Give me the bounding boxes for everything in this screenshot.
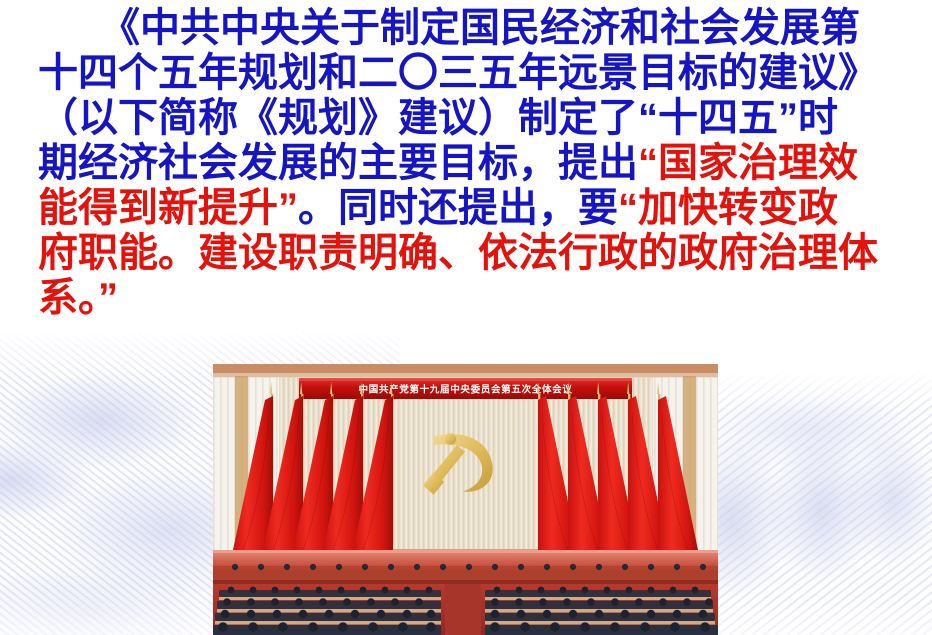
text-segment-highlight: 系。” — [38, 276, 118, 320]
text-line-3: （以下简称《规划》建议）制定了“十四五”时 — [38, 96, 898, 141]
text-line-2: 十四个五年规划和二〇三五年远景目标的建议》 — [38, 51, 898, 96]
photo-illustration: 中国共产党第十九届中央委员会第五次全体会议 — [213, 364, 718, 635]
presidium-row — [213, 564, 718, 584]
conference-banner: 中国共产党第十九届中央委员会第五次全体会议 — [299, 378, 632, 399]
text-segment: 。同时还提出，要 — [298, 186, 618, 230]
text-segment-highlight: “加快转变政 — [618, 186, 838, 230]
text-line-1: 《中共中央关于制定国民经济和社会发展第 — [38, 6, 898, 51]
text-segment-highlight: 能得到新提升” — [38, 186, 298, 230]
text-segment: 十四个五年规划和二〇三五年远景目标的建议》 — [38, 51, 878, 95]
text-segment: 期经济社会发展的主要目标，提出 — [38, 141, 638, 185]
soffit-trim — [213, 373, 718, 378]
text-segment-highlight: “国家治理效 — [638, 141, 858, 185]
presidium-table-front — [213, 580, 718, 584]
slide-canvas: 《中共中央关于制定国民经济和社会发展第 十四个五年规划和二〇三五年远景目标的建议… — [0, 0, 932, 635]
text-segment-highlight: 府职能。建设职责明确、依法行政的政府治理体 — [38, 231, 878, 275]
text-segment: 《中共中央关于制定国民经济和社会发展第 — [100, 6, 860, 50]
text-segment: （以下简称《规划》建议）制定了“十四五”时 — [38, 96, 838, 140]
text-line-6: 府职能。建设职责明确、依法行政的政府治理体 — [38, 231, 898, 276]
stage-edge-highlight — [213, 550, 718, 553]
text-line-5: 能得到新提升”。同时还提出，要“加快转变政 — [38, 186, 898, 231]
body-text-block: 《中共中央关于制定国民经济和社会发展第 十四个五年规划和二〇三五年远景目标的建议… — [38, 6, 898, 321]
text-line-7: 系。” — [38, 276, 898, 321]
text-line-4: 期经济社会发展的主要目标，提出“国家治理效 — [38, 141, 898, 186]
centre-aisle — [445, 584, 481, 635]
plenary-session-photo: 中国共产党第十九届中央委员会第五次全体会议 — [213, 364, 718, 635]
presidium-table — [213, 570, 718, 581]
